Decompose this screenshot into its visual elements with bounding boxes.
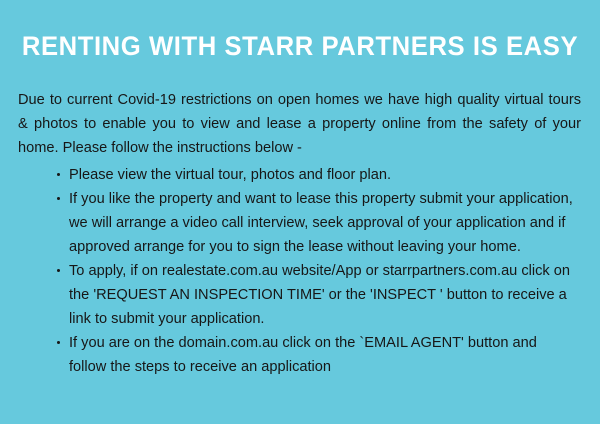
list-item: To apply, if on realestate.com.au websit…	[56, 259, 576, 331]
renting-info-poster: RENTING WITH STARR PARTNERS IS EASY Due …	[0, 0, 600, 424]
intro-paragraph: Due to current Covid-19 restrictions on …	[18, 88, 581, 160]
page-title: RENTING WITH STARR PARTNERS IS EASY	[15, 31, 585, 61]
list-item: Please view the virtual tour, photos and…	[56, 163, 576, 187]
instructions-list: Please view the virtual tour, photos and…	[56, 163, 576, 379]
list-item: If you are on the domain.com.au click on…	[56, 331, 576, 379]
list-item: If you like the property and want to lea…	[56, 187, 576, 259]
